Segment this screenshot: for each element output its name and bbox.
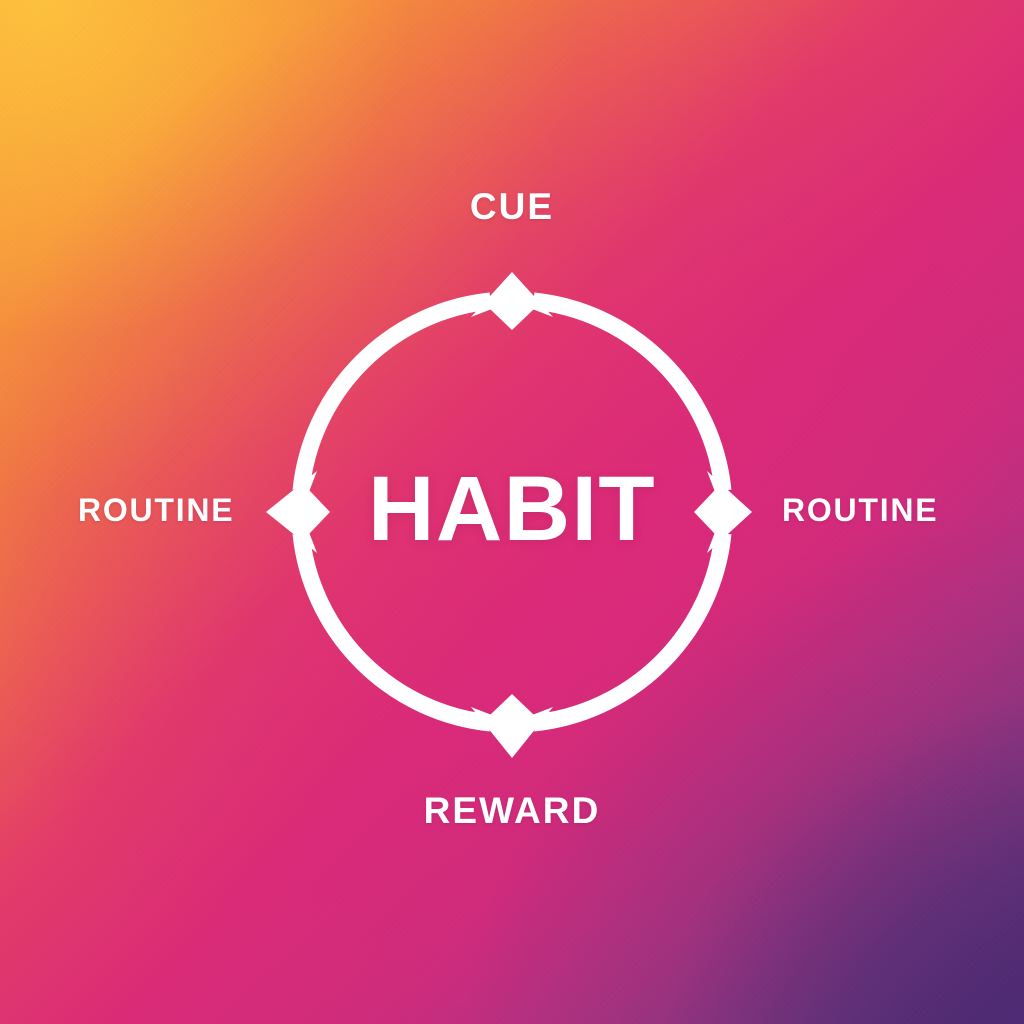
node-label-cue: CUE (0, 186, 1024, 228)
node-label-routine-left: ROUTINE (78, 492, 234, 529)
node-label-reward: REWARD (0, 790, 1024, 832)
node-label-routine-right: ROUTINE (782, 492, 938, 529)
habit-loop-graphic: HABIT CUE ROUTINE REWARD ROUTINE (0, 0, 1024, 1024)
ring-arc-bottom-left (301, 534, 491, 724)
ring-arc-bottom-right (534, 534, 724, 724)
